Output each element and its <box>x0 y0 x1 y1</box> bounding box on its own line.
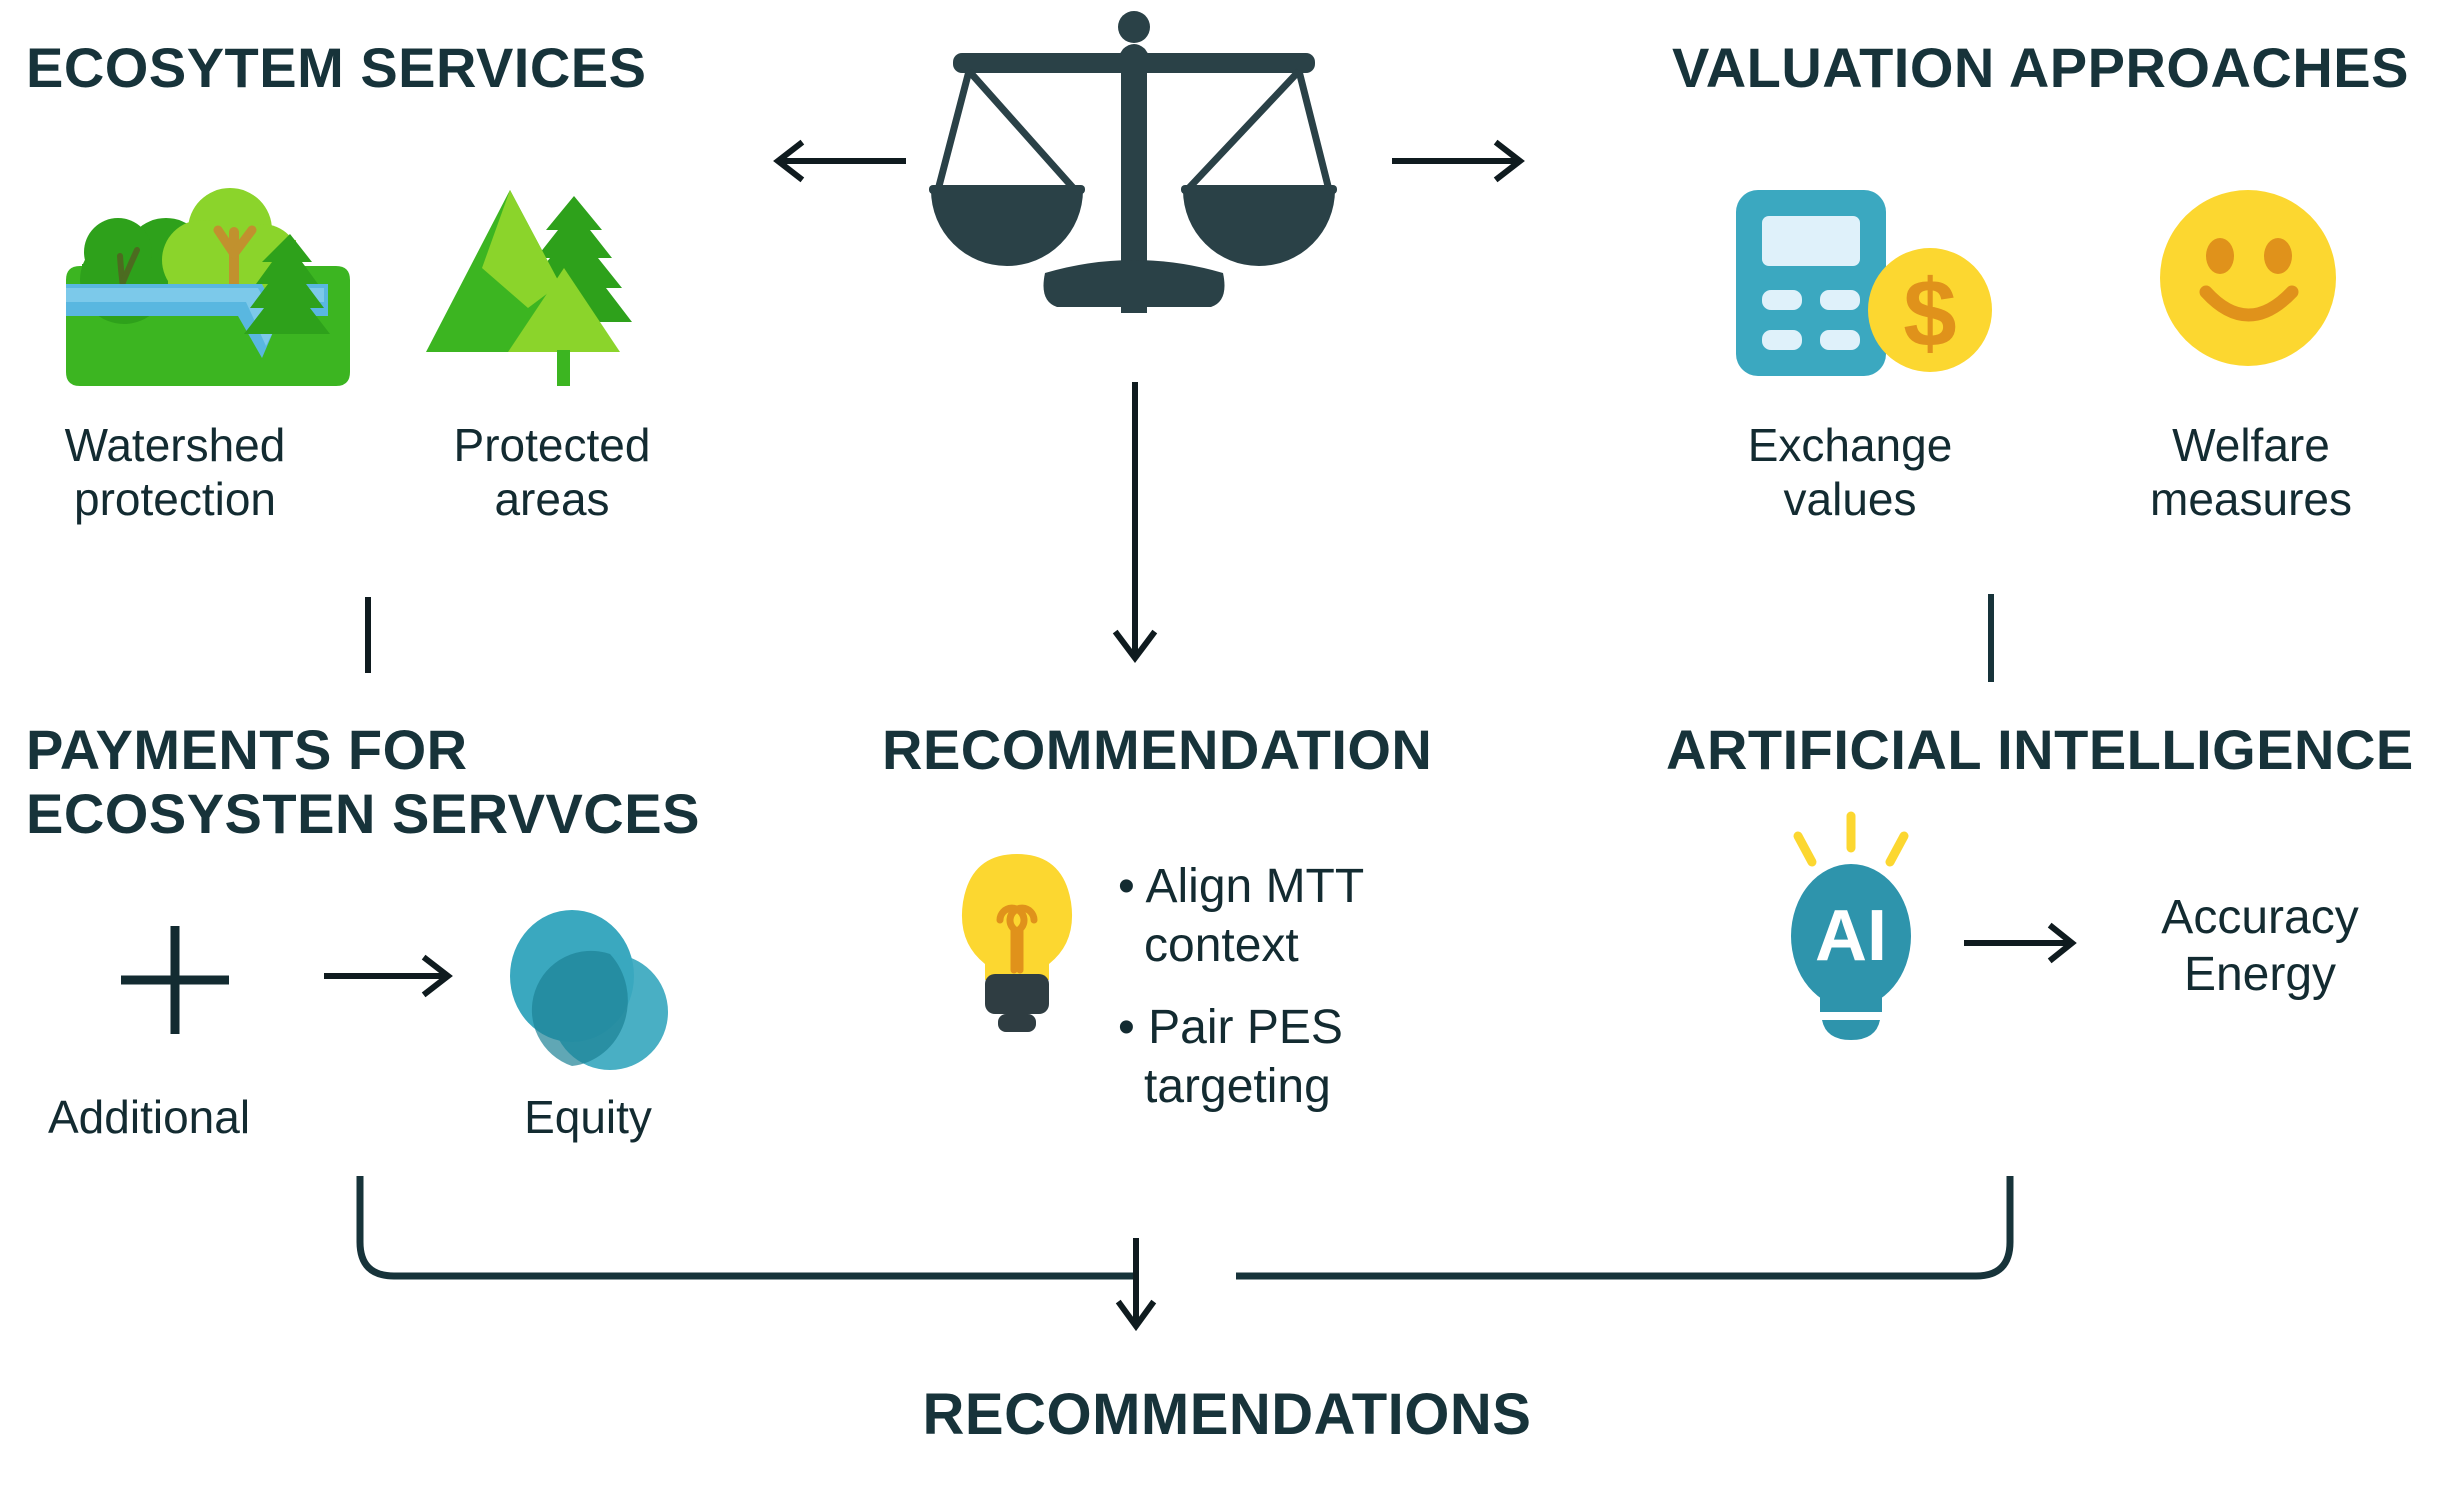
heading-ecosystem-services: ECOSYTEM SERVICES <box>26 36 647 100</box>
ai-output-energy: Energy <box>2090 947 2430 1004</box>
vertical-connector-left <box>362 595 374 675</box>
ai-bulb-text: AI <box>1815 896 1887 976</box>
ai-output-accuracy: Accuracy <box>2090 890 2430 947</box>
welfare-measures-line2: measures <box>2106 472 2396 526</box>
calculator-coin-icon: $ <box>1732 186 2012 386</box>
ai-bulb-icon: AI <box>1756 808 1946 1038</box>
balance-scale-icon <box>925 5 1345 360</box>
svg-text:$: $ <box>1903 260 1956 367</box>
welfare-measures-label: Welfare measures <box>2106 418 2396 527</box>
bracket-connector <box>350 1170 2020 1300</box>
equity-icon <box>500 908 680 1078</box>
arrow-right-icon-pes <box>320 953 456 999</box>
welfare-measures-line1: Welfare <box>2106 418 2396 472</box>
equity-label: Equity <box>478 1090 698 1144</box>
protected-areas-icon <box>424 168 674 398</box>
recommendation-bullets: • Align MTT context • Pair PES targeting <box>1118 858 1458 1116</box>
watershed-label-line2: protection <box>30 472 320 526</box>
exchange-values-label: Exchange values <box>1700 418 2000 527</box>
smiley-face-icon <box>2158 188 2338 368</box>
watershed-icon <box>58 168 358 398</box>
plus-icon <box>115 920 235 1040</box>
protected-areas-label: Protected areas <box>412 418 692 527</box>
heading-recommendations-footer: RECOMMENDATIONS <box>0 1382 2454 1448</box>
arrow-down-icon-center <box>1105 378 1165 678</box>
heading-valuation-approaches: VALUATION APPROACHES <box>1672 36 2409 100</box>
heading-recommendation: RECOMMENDATION <box>882 718 1432 782</box>
arrow-down-icon-bottom <box>1108 1236 1164 1346</box>
diagram-canvas: ECOSYTEM SERVICES <box>0 0 2454 1493</box>
lightbulb-icon <box>952 848 1082 1038</box>
watershed-label-line1: Watershed <box>30 418 320 472</box>
vertical-connector-right <box>1985 592 1997 684</box>
protected-areas-label-line2: areas <box>412 472 692 526</box>
protected-areas-label-line1: Protected <box>412 418 692 472</box>
ai-outputs-label: Accuracy Energy <box>2090 890 2430 1003</box>
arrow-right-icon-ai <box>1960 920 2080 966</box>
heading-payments-for-ecosystem-services: PAYMENTS FOR ECOSYSTEN SERVVCES <box>26 718 746 846</box>
recommendation-bullet-1: • Align MTT context <box>1118 858 1458 975</box>
heading-artificial-intelligence: ARTIFICIAL INTELLIGENCE <box>1666 718 2414 782</box>
recommendation-bullet-2: • Pair PES targeting <box>1118 999 1458 1116</box>
exchange-values-line1: Exchange <box>1700 418 2000 472</box>
additional-label: Additional <box>48 1090 318 1144</box>
watershed-label: Watershed protection <box>30 418 320 527</box>
exchange-values-line2: values <box>1700 472 2000 526</box>
arrow-right-icon-top <box>1388 138 1528 184</box>
arrow-left-icon <box>770 138 910 184</box>
